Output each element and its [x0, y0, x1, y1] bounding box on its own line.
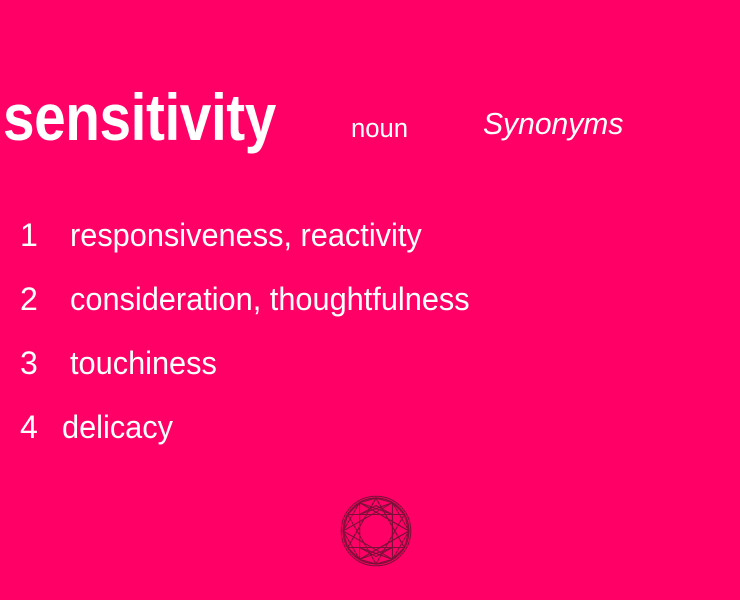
- list-item: 3 touchiness: [0, 344, 740, 408]
- sense-number: 2: [20, 280, 38, 318]
- sense-number: 1: [20, 216, 38, 254]
- part-of-speech-label: noun: [351, 113, 408, 143]
- sense-synonyms: touchiness: [70, 344, 217, 382]
- list-item: 2 consideration, thoughtfulness: [0, 280, 740, 344]
- synonyms-card: sensitivity noun Synonyms 1 responsivene…: [0, 0, 740, 600]
- headword: sensitivity: [3, 84, 276, 150]
- list-item: 1 responsiveness, reactivity: [0, 216, 740, 280]
- sense-number: 3: [20, 344, 38, 382]
- entry-header: sensitivity noun Synonyms: [0, 84, 740, 164]
- list-item: 4 delicacy: [0, 408, 740, 472]
- sense-synonyms: consideration, thoughtfulness: [70, 280, 470, 318]
- sense-synonyms: delicacy: [62, 408, 173, 446]
- star-polygon-rosette-icon: [339, 494, 413, 568]
- section-label-synonyms: Synonyms: [483, 107, 623, 141]
- synonym-list: 1 responsiveness, reactivity 2 considera…: [0, 216, 740, 472]
- sense-number: 4: [20, 408, 38, 446]
- sense-synonyms: responsiveness, reactivity: [70, 216, 422, 254]
